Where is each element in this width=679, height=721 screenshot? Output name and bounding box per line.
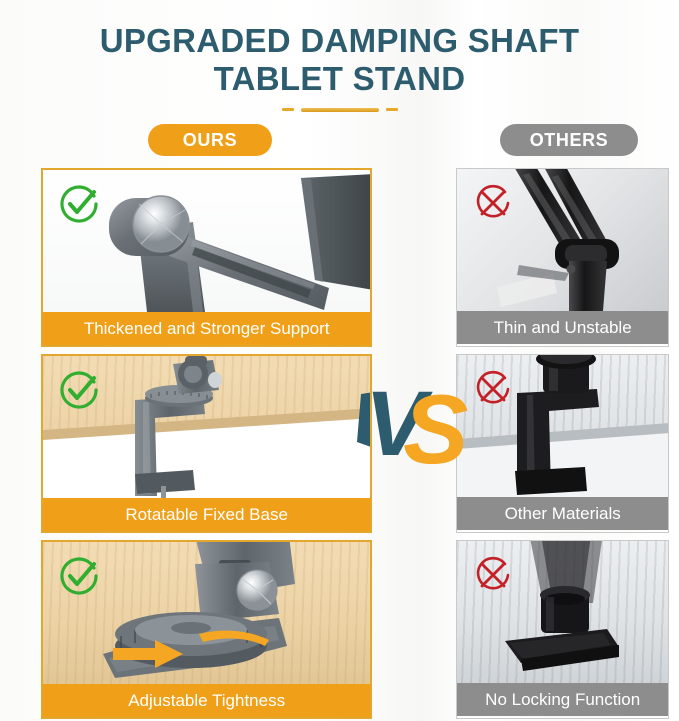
others-photo-1 — [457, 169, 668, 311]
others-photo-2 — [457, 355, 668, 497]
column-headers: OURS OTHERS — [0, 124, 679, 162]
underline-dash-right — [386, 108, 398, 111]
ours-card-3: Adjustable Tightness — [41, 540, 372, 719]
ours-caption-1: Thickened and Stronger Support — [43, 312, 370, 345]
badge-others: OTHERS — [500, 124, 638, 156]
others-caption-1: Thin and Unstable — [457, 311, 668, 344]
comparison-row: Rotatable Fixed Base — [10, 354, 669, 533]
title-underline-decoration — [0, 108, 679, 112]
ours-caption-2: Rotatable Fixed Base — [43, 498, 370, 531]
check-circle-icon — [58, 555, 100, 597]
ours-card-2: Rotatable Fixed Base — [41, 354, 372, 533]
cross-circle-icon — [472, 182, 514, 224]
underline-bar — [301, 108, 379, 112]
check-circle-icon — [58, 369, 100, 411]
check-circle-icon — [58, 183, 100, 225]
title-line-2: TABLET STAND — [0, 60, 679, 98]
others-photo-3 — [457, 541, 668, 683]
page-title: UPGRADED DAMPING SHAFT TABLET STAND — [0, 22, 679, 99]
ours-card-1: Thickened and Stronger Support — [41, 168, 372, 347]
underline-dash-left — [282, 108, 294, 111]
badge-ours: OURS — [148, 124, 272, 156]
ours-photo-1 — [43, 170, 370, 312]
ours-photo-3 — [43, 542, 370, 684]
cross-circle-icon — [472, 368, 514, 410]
title-line-1: UPGRADED DAMPING SHAFT — [100, 22, 580, 59]
comparison-row: Thickened and Stronger Support — [10, 168, 669, 347]
versus-s-glyph: S — [403, 383, 468, 467]
others-card-1: Thin and Unstable — [456, 168, 669, 347]
ours-photo-2 — [43, 356, 370, 498]
cross-circle-icon — [472, 554, 514, 596]
others-caption-2: Other Materials — [457, 497, 668, 530]
comparison-grid: Thickened and Stronger Support — [0, 168, 679, 719]
versus-mark: V S — [365, 383, 475, 467]
product-comparison-infographic: UPGRADED DAMPING SHAFT TABLET STAND OURS… — [0, 0, 679, 721]
others-card-3: No Locking Function — [456, 540, 669, 719]
title-block: UPGRADED DAMPING SHAFT TABLET STAND — [0, 0, 679, 112]
others-card-2: Other Materials — [456, 354, 669, 533]
ours-caption-3: Adjustable Tightness — [43, 684, 370, 717]
others-caption-3: No Locking Function — [457, 683, 668, 716]
comparison-row: Adjustable Tightness — [10, 540, 669, 719]
